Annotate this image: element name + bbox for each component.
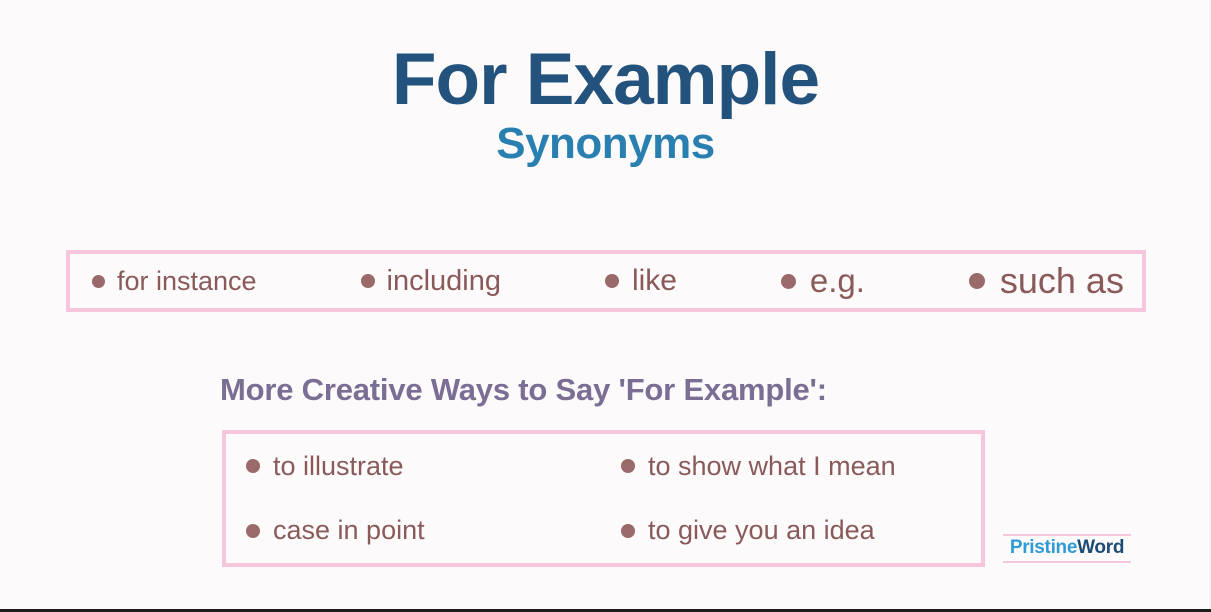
- creative-label: to give you an idea: [648, 515, 875, 546]
- synonym-item: including: [361, 265, 501, 298]
- synonym-label: including: [387, 265, 501, 298]
- infographic-page: For Example Synonyms for instance includ…: [0, 0, 1211, 612]
- bullet-icon: [92, 275, 105, 288]
- synonym-label: for instance: [117, 266, 257, 297]
- synonym-item: for instance: [92, 266, 257, 297]
- primary-synonyms-box: for instance including like e.g. such as: [66, 250, 1146, 312]
- page-header: For Example Synonyms: [0, 0, 1211, 166]
- creative-section-heading: More Creative Ways to Say 'For Example':: [220, 372, 827, 408]
- creative-label: to illustrate: [273, 451, 404, 482]
- page-title: For Example: [0, 44, 1211, 116]
- synonym-item: like: [605, 264, 677, 298]
- creative-item: case in point: [246, 515, 621, 546]
- creative-item: to illustrate: [246, 451, 621, 482]
- creative-label: case in point: [273, 515, 425, 546]
- bullet-icon: [246, 524, 260, 538]
- creative-label: to show what I mean: [648, 451, 896, 482]
- watermark-primary-text: Pristine: [1010, 537, 1077, 558]
- bullet-icon: [361, 274, 375, 288]
- creative-item: to give you an idea: [621, 515, 981, 546]
- page-subtitle: Synonyms: [0, 122, 1211, 166]
- watermark-secondary-text: Word: [1077, 537, 1124, 558]
- brand-watermark: PristineWord: [1003, 534, 1131, 563]
- synonym-label: e.g.: [810, 262, 865, 300]
- synonym-label: like: [632, 264, 677, 298]
- creative-item: to show what I mean: [621, 451, 981, 482]
- synonym-label: such as: [1000, 260, 1124, 302]
- synonym-item: such as: [969, 260, 1124, 302]
- bullet-icon: [605, 274, 619, 288]
- synonym-item: e.g.: [781, 262, 865, 300]
- bullet-icon: [246, 459, 260, 473]
- bullet-icon: [621, 524, 635, 538]
- bullet-icon: [781, 274, 796, 289]
- bullet-icon: [621, 459, 635, 473]
- bullet-icon: [969, 273, 985, 289]
- creative-synonyms-box: to illustrate to show what I mean case i…: [222, 430, 985, 567]
